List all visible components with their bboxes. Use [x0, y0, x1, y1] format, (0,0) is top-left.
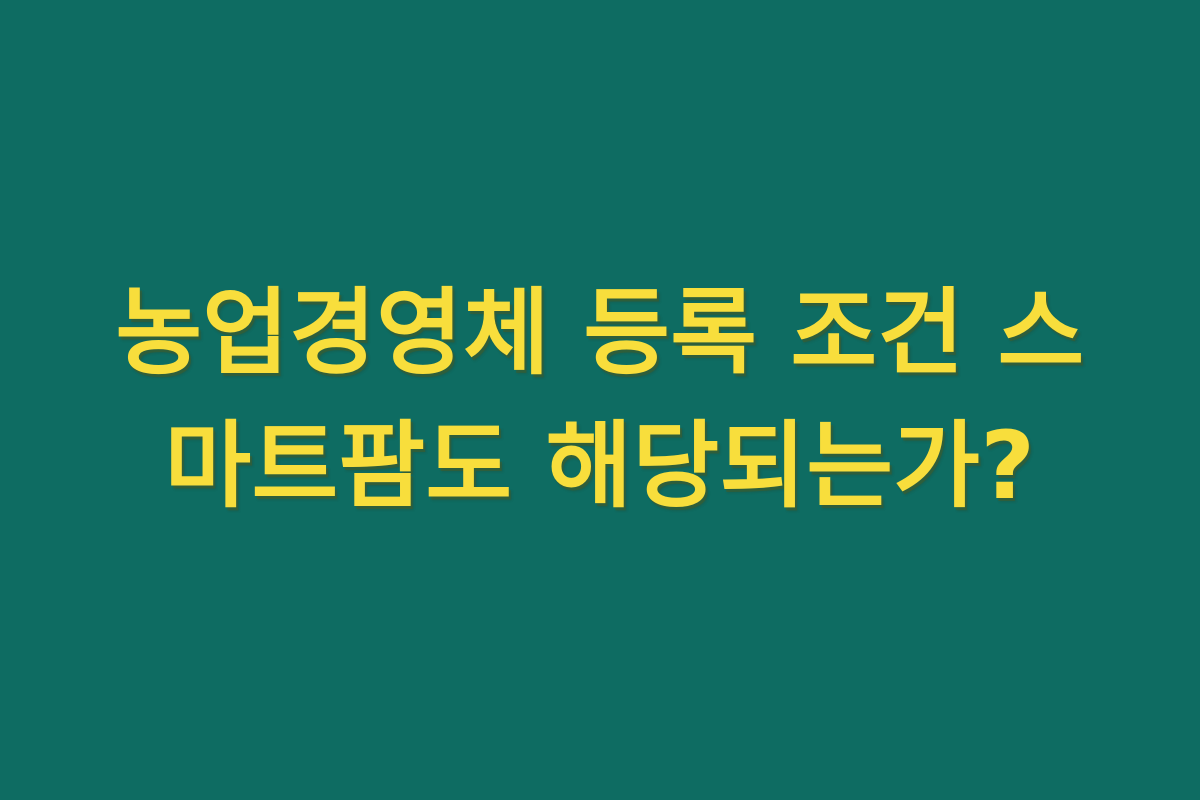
page-title: 농업경영체 등록 조건 스 마트팜도 해당되는가?	[85, 267, 1115, 534]
title-card: 농업경영체 등록 조건 스 마트팜도 해당되는가?	[0, 0, 1200, 800]
headline-line-1: 농업경영체 등록 조건 스	[85, 267, 1115, 400]
headline-line-2: 마트팜도 해당되는가?	[85, 400, 1115, 533]
